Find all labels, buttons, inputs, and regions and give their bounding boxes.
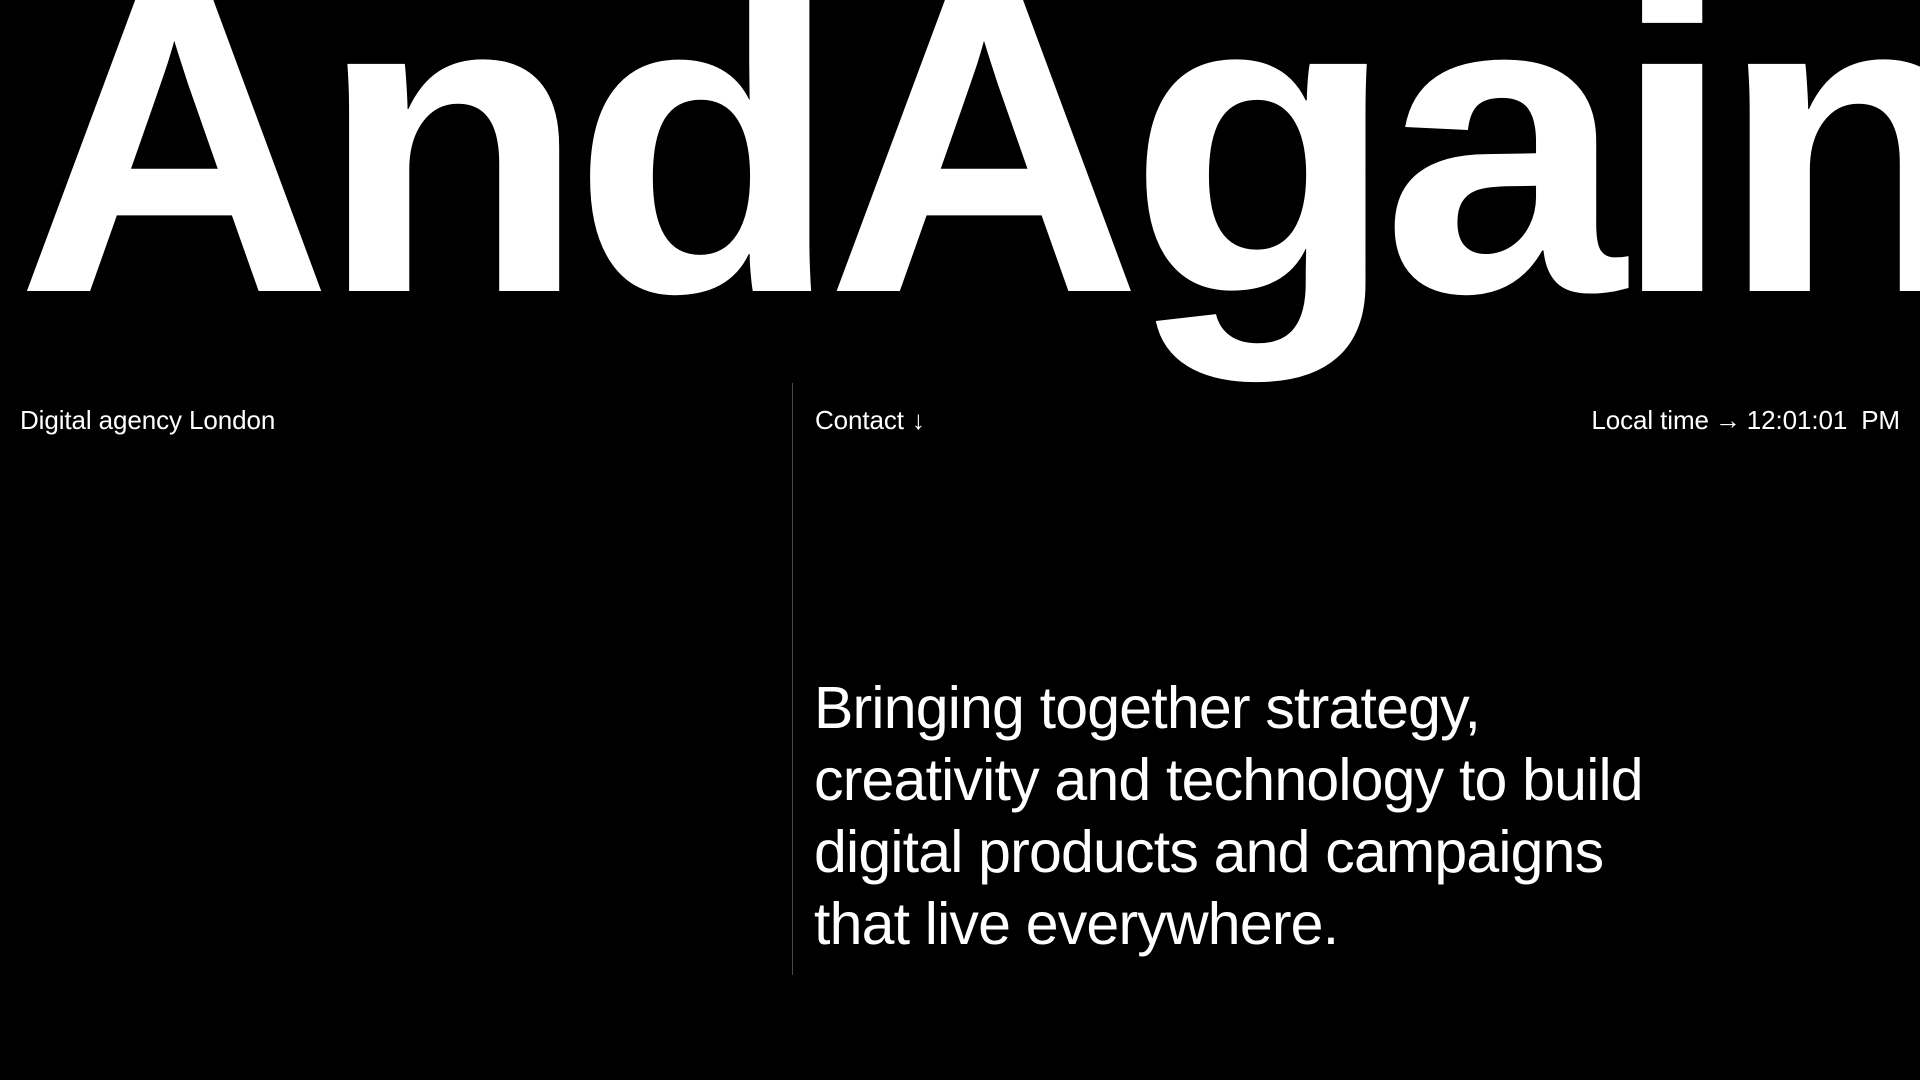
headline-line: creativity and technology to build bbox=[814, 744, 1904, 816]
contact-label: Contact bbox=[815, 405, 904, 435]
local-time-label: Local time bbox=[1591, 405, 1709, 435]
vertical-divider bbox=[792, 383, 793, 975]
local-time-value: 12:01:01 bbox=[1747, 405, 1847, 435]
local-time-meridiem: PM bbox=[1861, 405, 1900, 435]
local-time-display: Local time→12:01:01PM bbox=[1591, 398, 1900, 442]
headline-line: that live everywhere. bbox=[814, 888, 1904, 960]
agency-tagline: Digital agency London bbox=[20, 398, 275, 442]
headline-line: digital products and campaigns bbox=[814, 816, 1904, 888]
headline-line: Bringing together strategy, bbox=[814, 672, 1904, 744]
trademark-mark: TM bbox=[1872, 72, 1898, 92]
contact-link[interactable]: Contact↓ bbox=[815, 398, 925, 442]
hero-wordmark-block: AndAgain TM bbox=[0, 0, 1920, 440]
hero-headline: Bringing together strategy, creativity a… bbox=[814, 672, 1904, 960]
arrow-down-icon: ↓ bbox=[912, 398, 925, 442]
meta-row: Digital agency London Contact↓ Local tim… bbox=[0, 398, 1920, 442]
arrow-right-icon: → bbox=[1715, 398, 1741, 442]
brand-wordmark: AndAgain bbox=[16, 0, 1920, 358]
